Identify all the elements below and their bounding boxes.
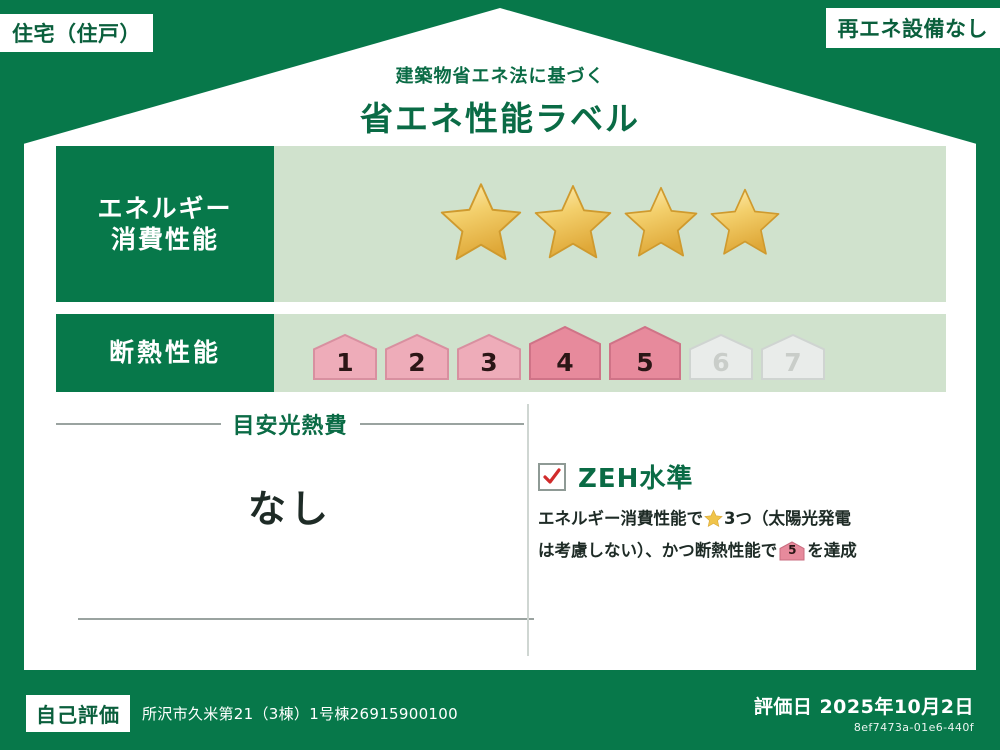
zeh-title: ZEH水準 — [578, 458, 693, 495]
energy-performance-label: エネルギー 消費性能 — [56, 146, 274, 302]
star-icon — [439, 180, 523, 268]
zeh-desc-line1-b: 3つ（太陽光発電 — [724, 509, 851, 528]
insulation-level-number: 5 — [636, 348, 653, 381]
star-rating — [439, 180, 781, 268]
zeh-desc-line1-a: エネルギー消費性能で — [538, 509, 703, 528]
insulation-level-number: 3 — [480, 348, 497, 381]
insulation-level-number: 6 — [712, 348, 729, 381]
insulation-level-2: 2 — [384, 325, 450, 381]
insulation-level-number: 7 — [784, 348, 801, 381]
section-vertical-divider — [527, 404, 529, 656]
star-icon — [709, 186, 781, 262]
inline-house-number: 5 — [779, 541, 805, 561]
evaluation-date-label: 評価日 — [754, 696, 813, 718]
heading-rule-left — [56, 423, 221, 425]
evaluation-date-value: 2025年10月2日 — [819, 696, 974, 718]
footer-right: 評価日 2025年10月2日 8ef7473a-01e6-440f — [754, 692, 974, 734]
self-evaluation-badge: 自己評価 — [26, 695, 130, 732]
energy-label-line1: エネルギー — [97, 193, 232, 224]
footer-left: 自己評価 所沢市久米第21（3棟）1号棟26915900100 — [26, 695, 458, 732]
insulation-performance-label: 断熱性能 — [56, 314, 274, 392]
zeh-desc-line2-a: は考慮しない）、かつ断熱性能で — [538, 541, 777, 560]
building-type-tag: 住宅（住戸） — [0, 14, 153, 52]
inline-star-icon — [704, 509, 723, 537]
inline-house-badge-icon: 5 — [779, 541, 805, 561]
insulation-level-3: 3 — [456, 325, 522, 381]
insulation-level-number: 1 — [336, 348, 353, 381]
utility-cost-underline — [78, 618, 534, 620]
zeh-checkbox[interactable] — [538, 463, 566, 491]
star-icon — [533, 182, 613, 266]
utility-cost-heading: 目安光熱費 — [56, 408, 524, 440]
check-icon — [542, 467, 562, 487]
energy-stars-area — [274, 146, 946, 302]
label-title-block: 建築物省エネ法に基づく 省エネ性能ラベル — [0, 62, 1000, 140]
star-icon — [623, 184, 699, 264]
insulation-rating-scale: 1234567 — [274, 314, 946, 392]
insulation-level-1: 1 — [312, 325, 378, 381]
zeh-desc-line2-b: を達成 — [807, 541, 857, 560]
evaluation-date: 評価日 2025年10月2日 — [754, 692, 974, 719]
zeh-section: ZEH水準 エネルギー消費性能で 3つ（太陽光発電 は考慮しない）、かつ断熱性能… — [538, 458, 950, 566]
property-address: 所沢市久米第21（3棟）1号棟26915900100 — [142, 703, 458, 724]
page-title: 省エネ性能ラベル — [0, 92, 1000, 140]
insulation-performance-row: 断熱性能 1234567 — [56, 314, 946, 392]
insulation-level-number: 4 — [556, 348, 573, 381]
insulation-level-6: 6 — [688, 325, 754, 381]
utility-cost-value: なし — [56, 478, 524, 533]
insulation-level-7: 7 — [760, 325, 826, 381]
zeh-heading: ZEH水準 — [538, 458, 950, 495]
energy-performance-label: 住宅（住戸） 再エネ設備なし 建築物省エネ法に基づく 省エネ性能ラベル エネルギ… — [0, 0, 1000, 750]
renewable-energy-tag: 再エネ設備なし — [826, 8, 1000, 48]
evaluation-id: 8ef7473a-01e6-440f — [754, 721, 974, 734]
energy-label-line2: 消費性能 — [111, 224, 219, 255]
heading-rule-right — [360, 423, 525, 425]
insulation-level-5: 5 — [608, 325, 682, 381]
utility-cost-title: 目安光熱費 — [233, 408, 348, 440]
insulation-level-4: 4 — [528, 325, 602, 381]
title-subtitle: 建築物省エネ法に基づく — [0, 62, 1000, 88]
zeh-description: エネルギー消費性能で 3つ（太陽光発電 は考慮しない）、かつ断熱性能で 5 を達… — [538, 505, 950, 566]
insulation-level-number: 2 — [408, 348, 425, 381]
energy-performance-row: エネルギー 消費性能 — [56, 146, 946, 302]
